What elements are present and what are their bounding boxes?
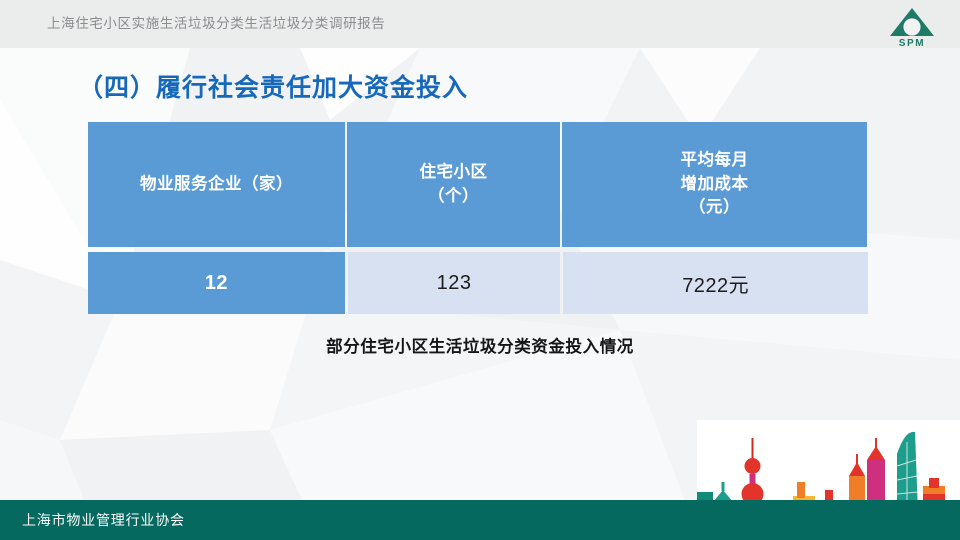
page-title: （四）履行社会责任加大资金投入 xyxy=(78,68,468,104)
table-data-row: 12 123 7222元 xyxy=(88,252,868,314)
header-label-line: （个） xyxy=(420,185,488,209)
data-table: 物业服务企业（家） 住宅小区 （个） 平均每月 增加成本 （元） 12 123 … xyxy=(88,122,868,314)
table-header-cell-communities: 住宅小区 （个） xyxy=(347,122,560,247)
spm-triangle-logo: SPM xyxy=(884,4,940,48)
header-label-line: 平均每月 xyxy=(681,149,749,173)
table-header-row: 物业服务企业（家） 住宅小区 （个） 平均每月 增加成本 （元） xyxy=(88,122,868,247)
table-cell-monthly-cost-value: 7222元 xyxy=(563,252,868,314)
table-header-cell-monthly-cost: 平均每月 增加成本 （元） xyxy=(562,122,867,247)
header-label-line: 住宅小区 xyxy=(420,161,488,185)
svg-text:SPM: SPM xyxy=(899,38,925,48)
footer-organization: 上海市物业管理行业协会 xyxy=(22,500,185,540)
header-label-line: 增加成本 xyxy=(681,173,749,197)
table-caption: 部分住宅小区生活垃圾分类资金投入情况 xyxy=(0,333,960,357)
table-cell-communities-value: 123 xyxy=(348,252,561,314)
table-cell-enterprises-value: 12 xyxy=(88,252,345,314)
header-label-line: 物业服务企业（家） xyxy=(140,173,293,197)
report-title: 上海住宅小区实施生活垃圾分类生活垃圾分类调研报告 xyxy=(47,0,385,48)
table-header-cell-enterprises: 物业服务企业（家） xyxy=(88,122,345,247)
spm-logo: SPM xyxy=(884,4,940,48)
slide-canvas: 上海住宅小区实施生活垃圾分类生活垃圾分类调研报告 SPM （四）履行社会责任加大… xyxy=(0,0,960,540)
header-label-line: （元） xyxy=(681,196,749,220)
